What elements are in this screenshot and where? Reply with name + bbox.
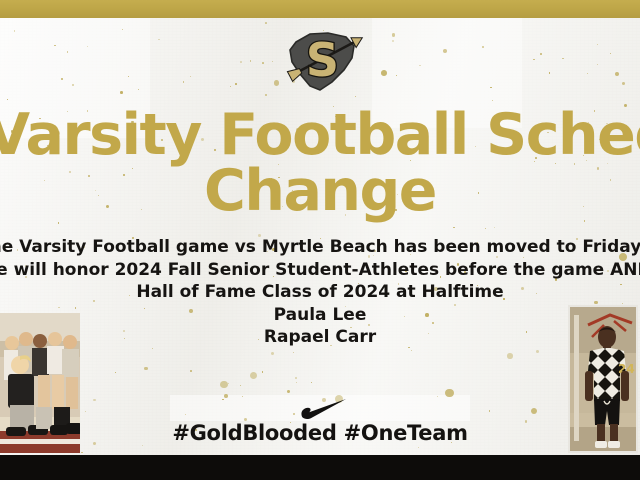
- nike-swoosh-icon: [299, 399, 347, 419]
- svg-text:S: S: [306, 33, 338, 87]
- schedule-change-poster: S Varsity Football Schedule Change The V…: [0, 0, 640, 480]
- honoree-name-1: Paula Lee: [0, 304, 640, 327]
- south-carolina-s-arrow-logo: S: [276, 24, 368, 98]
- top-gold-bar: [0, 0, 640, 18]
- bottom-black-bar: [0, 455, 640, 480]
- announcement-body: The Varsity Football game vs Myrtle Beac…: [0, 236, 640, 349]
- headline-line-2: Change: [0, 164, 640, 218]
- body-line-2: We will honor 2024 Fall Senior Student-A…: [0, 259, 640, 282]
- hashtags-footer: #GoldBlooded #OneTeam: [0, 421, 640, 445]
- honoree-name-2: Rapael Carr: [0, 326, 640, 349]
- body-line-3: Hall of Fame Class of 2024 at Halftime: [0, 281, 640, 304]
- page-title: Varsity Football Schedule Change: [0, 108, 640, 218]
- body-line-1: The Varsity Football game vs Myrtle Beac…: [0, 236, 640, 259]
